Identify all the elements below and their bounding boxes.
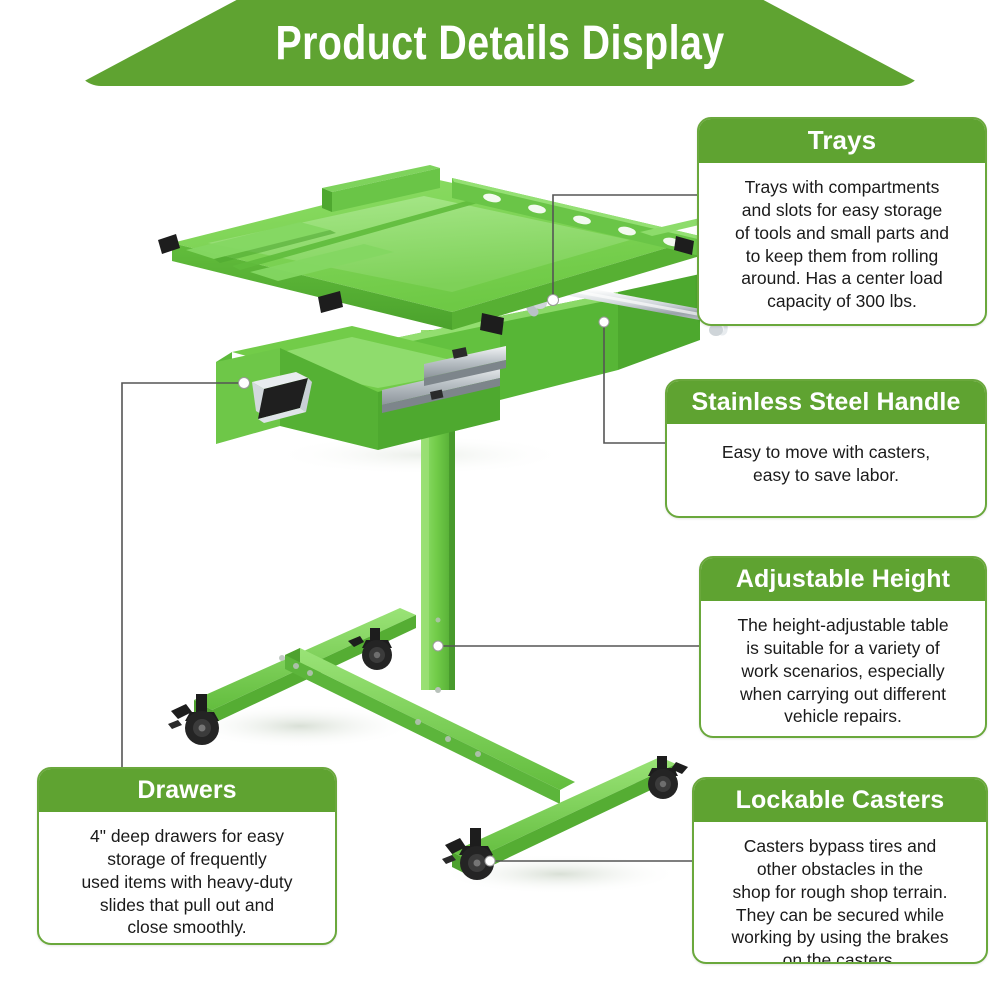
callout-title-drawers: Drawers	[39, 769, 335, 812]
callout-card-drawers[interactable]: Drawers 4" deep drawers for easy storage…	[37, 767, 337, 945]
callout-body-trays: Trays with compartments and slots for ea…	[699, 163, 985, 326]
callout-title-stainless-steel-handle: Stainless Steel Handle	[667, 381, 985, 424]
callout-title-adjustable-height: Adjustable Height	[701, 558, 985, 601]
callout-title-trays: Trays	[699, 119, 985, 163]
callout-body-stainless-steel-handle: Easy to move with casters, easy to save …	[667, 424, 985, 500]
callout-card-lockable-casters[interactable]: Lockable Casters Casters bypass tires an…	[692, 777, 988, 964]
callout-body-adjustable-height: The height-adjustable table is suitable …	[701, 601, 985, 738]
callout-body-drawers: 4" deep drawers for easy storage of freq…	[39, 812, 335, 945]
callout-card-trays[interactable]: Trays Trays with compartments and slots …	[697, 117, 987, 326]
callout-card-adjustable-height[interactable]: Adjustable Height The height-adjustable …	[699, 556, 987, 738]
callout-title-lockable-casters: Lockable Casters	[694, 779, 986, 822]
callout-card-stainless-steel-handle[interactable]: Stainless Steel Handle Easy to move with…	[665, 379, 987, 518]
callout-body-lockable-casters: Casters bypass tires and other obstacles…	[694, 822, 986, 964]
infographic-canvas: Product Details Display	[0, 0, 1000, 1000]
